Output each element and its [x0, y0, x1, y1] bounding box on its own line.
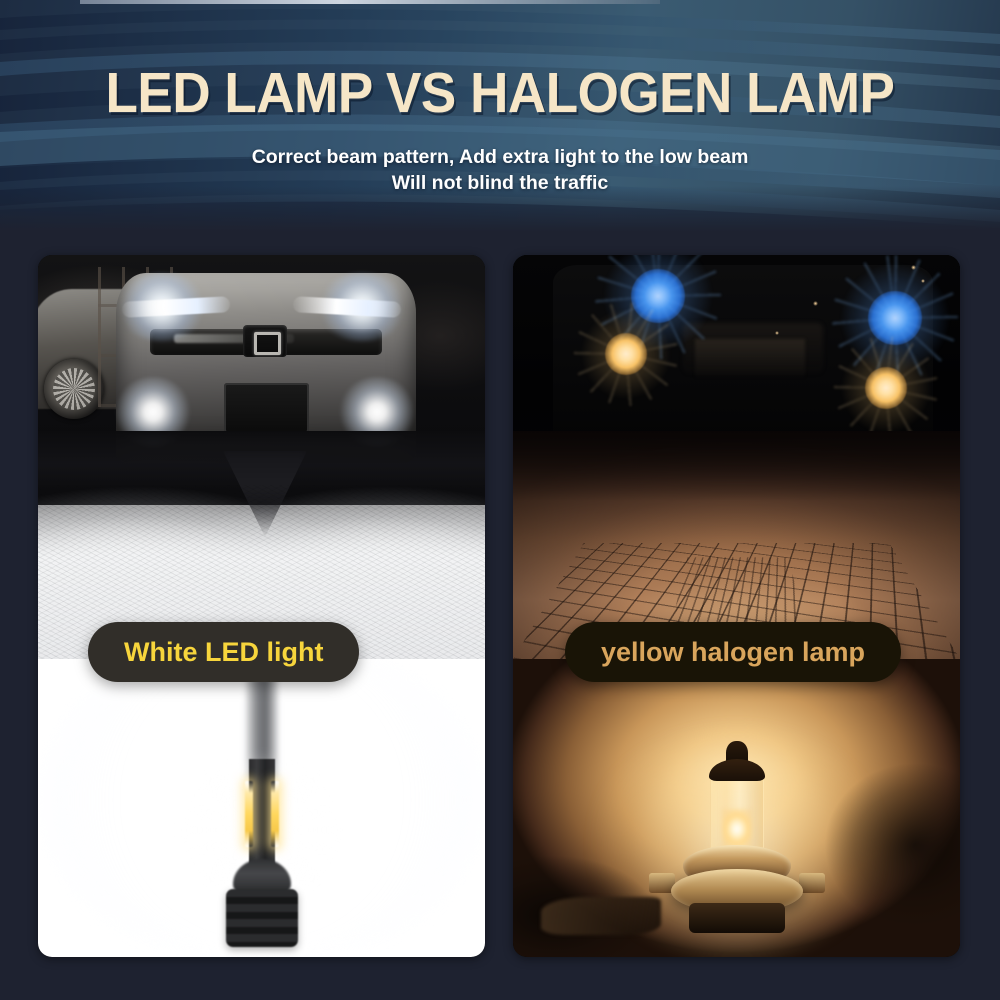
header-top-sliver	[80, 0, 660, 4]
background-car-wheel	[44, 359, 104, 419]
comparison-panels: White LED light	[0, 232, 1000, 1000]
panel-halogen: yellow halogen lamp	[513, 255, 960, 957]
dark-car-plate	[695, 339, 805, 377]
background-spark-1	[813, 301, 818, 306]
background-spark-2	[775, 331, 779, 335]
halogen-filament	[722, 809, 752, 849]
halogen-shadow-right	[780, 755, 960, 955]
halogen-bulb-scene	[513, 659, 960, 957]
background-spark-4	[921, 279, 925, 283]
led-bulb-scene	[38, 659, 485, 957]
license-plate-holder	[224, 383, 309, 433]
led-chip-right	[271, 781, 279, 847]
halogen-night-scene	[513, 255, 960, 659]
badge-yellow-halogen-lamp[interactable]: yellow halogen lamp	[565, 622, 901, 682]
halogen-bulb-photo	[513, 659, 960, 957]
page-title: LED LAMP VS HALOGEN LAMP	[35, 62, 965, 124]
halogen-fog-light-right	[865, 367, 907, 409]
header-banner: LED LAMP VS HALOGEN LAMP Correct beam pa…	[0, 0, 1000, 232]
led-beam-photo	[38, 255, 485, 659]
badge-white-led-light[interactable]: White LED light	[88, 622, 359, 682]
header-bottom-fade	[0, 186, 1000, 232]
led-bulb-photo	[38, 659, 485, 957]
honda-logo-icon	[243, 325, 287, 357]
halogen-bulb-wire	[541, 897, 661, 935]
halogen-fog-light-left	[605, 333, 647, 375]
led-chip-left	[245, 781, 253, 847]
subtitle-line-1: Correct beam pattern, Add extra light to…	[0, 144, 1000, 170]
halogen-beam-photo	[513, 255, 960, 659]
led-bulb-base	[226, 889, 298, 947]
civic-night-scene	[38, 255, 485, 659]
background-spark-3	[911, 265, 916, 270]
panel-led: White LED light	[38, 255, 485, 957]
halogen-bulb-connector	[689, 903, 785, 933]
